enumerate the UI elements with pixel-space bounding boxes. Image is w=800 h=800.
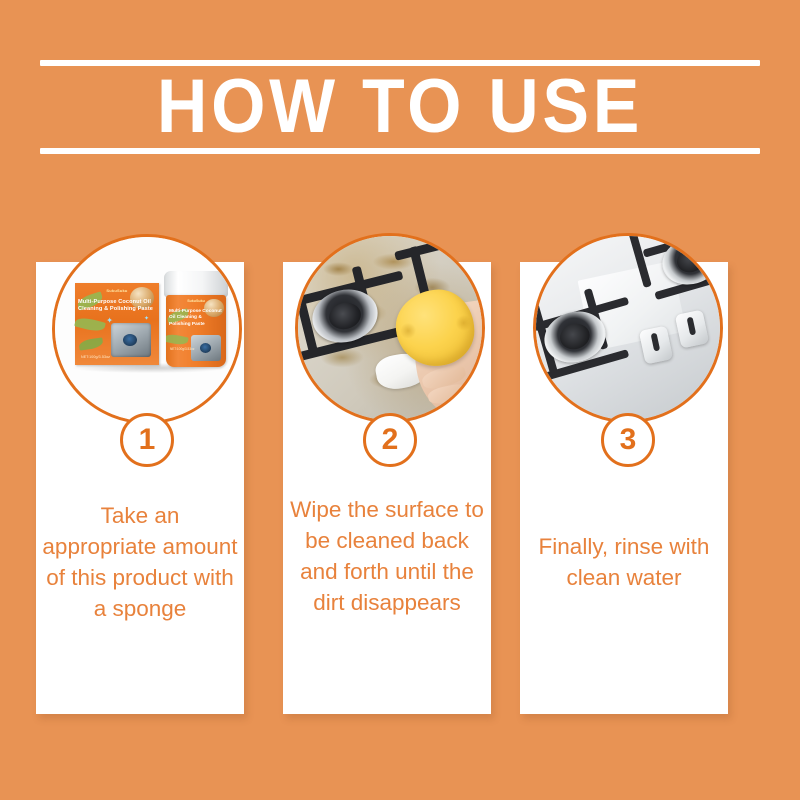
product-net-weight: NET:100g/3.53oz [81,355,110,359]
step-caption-2: Wipe the surface to be cleaned back and … [289,494,485,618]
product-box: SukuSuku Multi-Purpose Coconut Oil Clean… [75,283,159,365]
stove-illustration [111,323,151,357]
product-photo: SukuSuku Multi-Purpose Coconut Oil Clean… [55,237,239,421]
step-2-photo [295,233,485,423]
product-jar: SukuSuku Multi-Purpose Coconut Oil Clean… [163,271,229,367]
sparkle-icon: ✦ [106,317,113,325]
dirty-stove-photo [298,236,482,420]
product-title: Multi-Purpose Coconut Oil Cleaning & Pol… [169,309,223,328]
product-net-weight: NET:100g/3.53oz [170,347,194,351]
step-caption-1: Take an appropriate amount of this produ… [42,500,238,624]
title-rule-bottom [40,148,760,154]
step-number-badge-1: 1 [120,413,174,467]
page-title: HOW TO USE [32,66,768,148]
how-to-use-infographic: HOW TO USE SukuSuku Multi-Purpose Coconu… [0,0,800,800]
leaf-icon [166,333,189,347]
step-number-badge-3: 3 [601,413,655,467]
jar-lid [164,271,228,297]
sparkle-icon: ✦ [144,315,149,323]
product-brand: SukuSuku [166,299,226,303]
step-number-badge-2: 2 [363,413,417,467]
header: HOW TO USE [0,0,800,170]
jar-body: SukuSuku Multi-Purpose Coconut Oil Clean… [166,295,226,367]
stove-illustration [191,335,221,361]
step-caption-3: Finally, rinse with clean water [526,531,722,593]
step-3-photo [533,233,723,423]
product-brand: SukuSuku [75,288,159,293]
product-title: Multi-Purpose Coconut Oil Cleaning & Pol… [78,299,156,314]
leaf-icon [78,337,103,350]
step-1-photo: SukuSuku Multi-Purpose Coconut Oil Clean… [52,234,242,424]
leaf-icon [74,316,106,334]
clean-stove-photo [536,236,720,420]
